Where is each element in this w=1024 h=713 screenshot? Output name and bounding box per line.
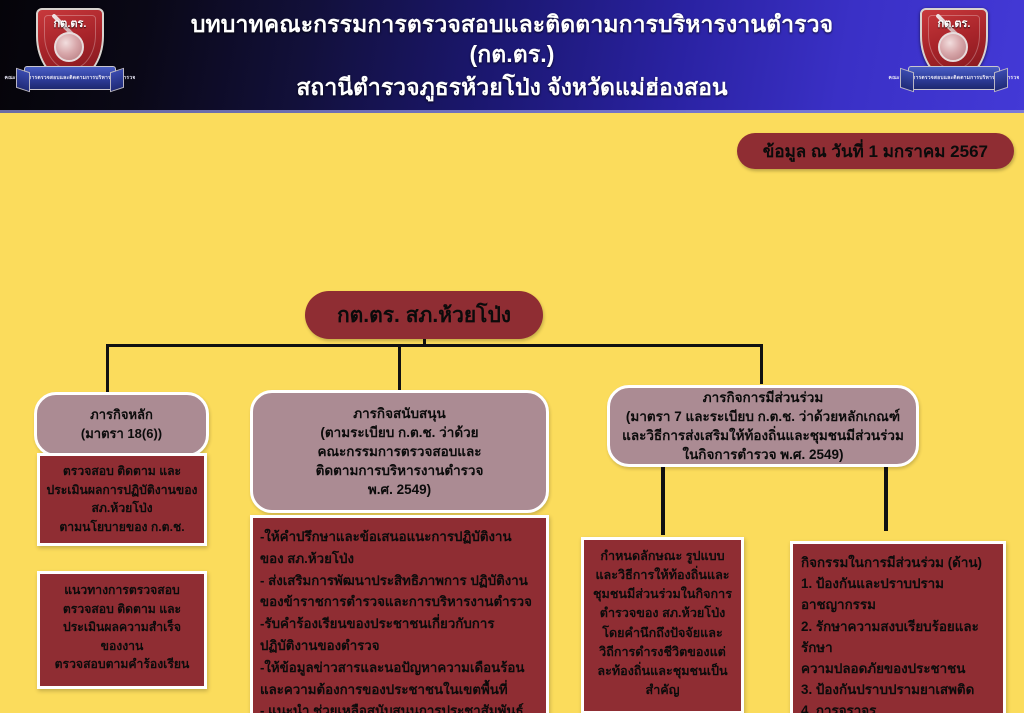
branch-header-participation-mission: ภารกิจการมีส่วนร่วม (มาตรา 7 และระเบียบ …: [607, 385, 919, 467]
org-chart: กต.ตร. สภ.ห้วยโป่ง ภารกิจหลัก (มาตรา 18(…: [0, 113, 1024, 713]
emblem-left-ribbon: คณะกรรมการตรวจสอบและติดตามการบริหารงานตำ…: [24, 66, 116, 90]
emblem-left-ribbon-text: คณะกรรมการตรวจสอบและติดตามการบริหารงานตำ…: [5, 74, 136, 82]
magnifier-lens-icon: [938, 32, 968, 62]
branch-right-box-1: กำหนดลักษณะ รูปแบบ และวิธีการให้ท้องถิ่น…: [581, 537, 744, 713]
branch-header-support-mission: ภารกิจสนับสนุน (ตามระเบียบ ก.ต.ช. ว่าด้ว…: [250, 390, 549, 513]
connector-to-left: [106, 344, 109, 392]
branch-middle-box-1: -ให้คำปรึกษาและข้อเสนอแนะการปฏิบัติงาน ข…: [250, 515, 549, 713]
branch-header-main-mission: ภารกิจหลัก (มาตรา 18(6)): [34, 392, 209, 457]
emblem-left-icon: กต.ตร. คณะกรรมการตรวจสอบและติดตามการบริห…: [22, 6, 118, 108]
page-title: บทบาทคณะกรรมการตรวจสอบและติดตามการบริหาร…: [0, 10, 1024, 102]
magnifier-lens-icon: [54, 32, 84, 62]
connector-horizontal: [106, 344, 763, 347]
page-header: กต.ตร. คณะกรรมการตรวจสอบและติดตามการบริห…: [0, 0, 1024, 113]
branch-left-box-2: แนวทางการตรวจสอบ ตรวจสอบ ติดตาม และ ประเ…: [37, 571, 207, 689]
emblem-right-abbr: กต.ตร.: [920, 14, 988, 32]
page-title-line2: สถานีตำรวจภูธรห้วยโป่ง จังหวัดแม่ฮ่องสอน: [150, 73, 874, 102]
branch-right-box-2: กิจกรรมในการมีส่วนร่วม (ด้าน) 1. ป้องกัน…: [790, 541, 1006, 713]
org-root-node: กต.ตร. สภ.ห้วยโป่ง: [305, 291, 543, 339]
connector-to-middle: [398, 344, 401, 392]
connector-right-child-1: [661, 463, 665, 535]
connector-to-right: [760, 344, 763, 384]
emblem-right-ribbon-text: คณะกรรมการตรวจสอบและติดตามการบริหารงานตำ…: [889, 74, 1020, 82]
emblem-right-ribbon: คณะกรรมการตรวจสอบและติดตามการบริหารงานตำ…: [908, 66, 1000, 90]
page-title-line1: บทบาทคณะกรรมการตรวจสอบและติดตามการบริหาร…: [150, 10, 874, 69]
emblem-right-icon: กต.ตร. คณะกรรมการตรวจสอบและติดตามการบริห…: [906, 6, 1002, 108]
branch-left-box-1: ตรวจสอบ ติดตาม และ ประเมินผลการปฏิบัติงา…: [37, 453, 207, 546]
emblem-left-abbr: กต.ตร.: [36, 14, 104, 32]
connector-right-child-2: [884, 463, 888, 531]
